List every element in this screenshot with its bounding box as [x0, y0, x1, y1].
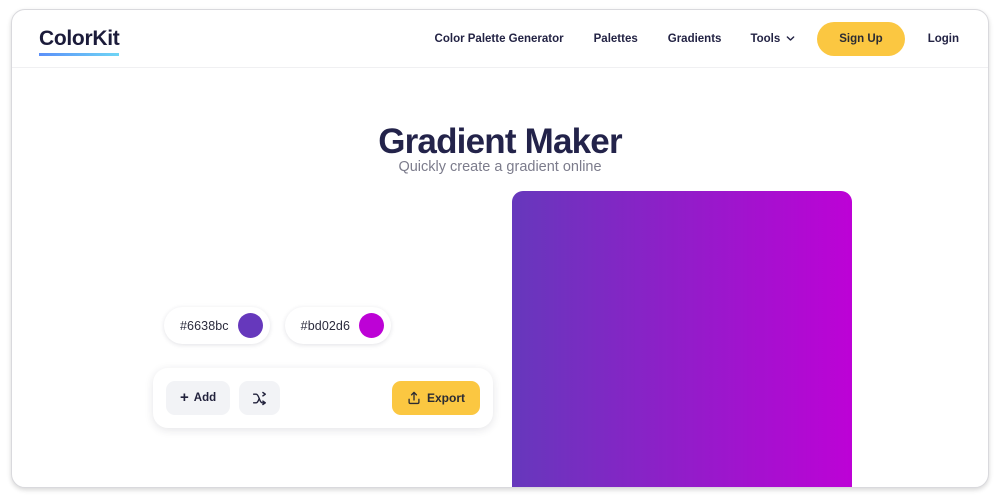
add-color-button[interactable]: + Add [166, 381, 230, 415]
nav-item-color-palette-generator[interactable]: Color Palette Generator [420, 10, 579, 68]
site-header: ColorKit Color Palette Generator Palette… [12, 10, 988, 68]
nav-item-gradients[interactable]: Gradients [653, 10, 737, 68]
sign-up-button[interactable]: Sign Up [817, 22, 904, 56]
brand-logo[interactable]: ColorKit [39, 28, 119, 56]
nav-item-palettes[interactable]: Palettes [579, 10, 653, 68]
chevron-down-icon [786, 34, 795, 43]
shuffle-icon [252, 391, 267, 406]
shuffle-button[interactable] [239, 381, 280, 415]
color-stop-item[interactable]: #bd02d6 [285, 307, 391, 344]
add-color-button-label: Add [194, 392, 216, 404]
color-hex-value[interactable]: #bd02d6 [301, 319, 350, 333]
page-subtitle: Quickly create a gradient online [12, 159, 988, 175]
color-stop-item[interactable]: #6638bc [164, 307, 270, 344]
browser-window-frame: ColorKit Color Palette Generator Palette… [11, 9, 989, 488]
nav-item-tools-label: Tools [750, 33, 780, 45]
color-hex-value[interactable]: #6638bc [180, 319, 229, 333]
color-swatch[interactable] [359, 313, 384, 338]
export-button[interactable]: Export [392, 381, 480, 415]
main-navigation: Color Palette Generator Palettes Gradien… [420, 10, 974, 68]
export-button-label: Export [427, 391, 465, 405]
page-title: Gradient Maker [12, 122, 988, 162]
gradient-toolbar: + Add Export [153, 368, 493, 428]
login-link[interactable]: Login [913, 10, 974, 68]
color-stop-list: #6638bc #bd02d6 [164, 307, 391, 344]
plus-icon: + [180, 390, 189, 405]
gradient-preview[interactable] [512, 191, 852, 488]
nav-item-tools[interactable]: Tools [736, 33, 809, 45]
color-swatch[interactable] [238, 313, 263, 338]
upload-icon [407, 391, 421, 405]
